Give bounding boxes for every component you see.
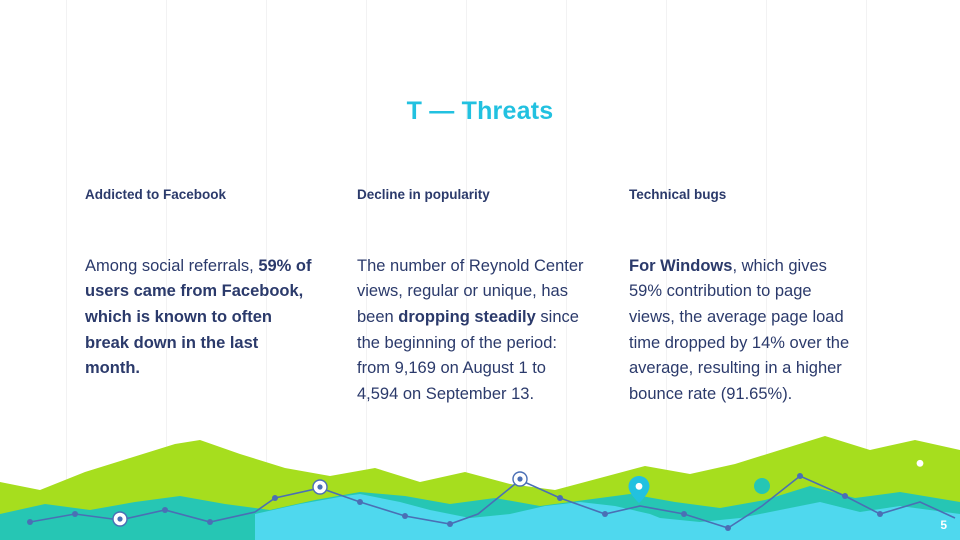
dot-cyan-marker — [754, 478, 770, 494]
decorative-chart-footer — [0, 410, 960, 540]
column-heading: Addicted to Facebook — [85, 186, 313, 204]
page-number: 5 — [940, 518, 947, 532]
column-heading: Technical bugs — [629, 186, 857, 204]
column-decline-in-popularity: Decline in popularity The number of Reyn… — [357, 186, 585, 408]
column-body: Among social referrals, 59% of users cam… — [85, 254, 313, 383]
column-technical-bugs: Technical bugs For Windows, which gives … — [629, 186, 857, 408]
column-body: For Windows, which gives 59% contributio… — [629, 254, 857, 408]
page-title: T — Threats — [0, 97, 960, 126]
dot-green-marker — [192, 445, 208, 461]
column-body: The number of Reynold Center views, regu… — [357, 254, 585, 408]
slide: T — Threats Addicted to Facebook Among s… — [0, 0, 960, 540]
column-addicted-to-facebook: Addicted to Facebook Among social referr… — [85, 186, 313, 382]
column-heading: Decline in popularity — [357, 186, 585, 204]
columns-container: Addicted to Facebook Among social referr… — [0, 186, 960, 446]
